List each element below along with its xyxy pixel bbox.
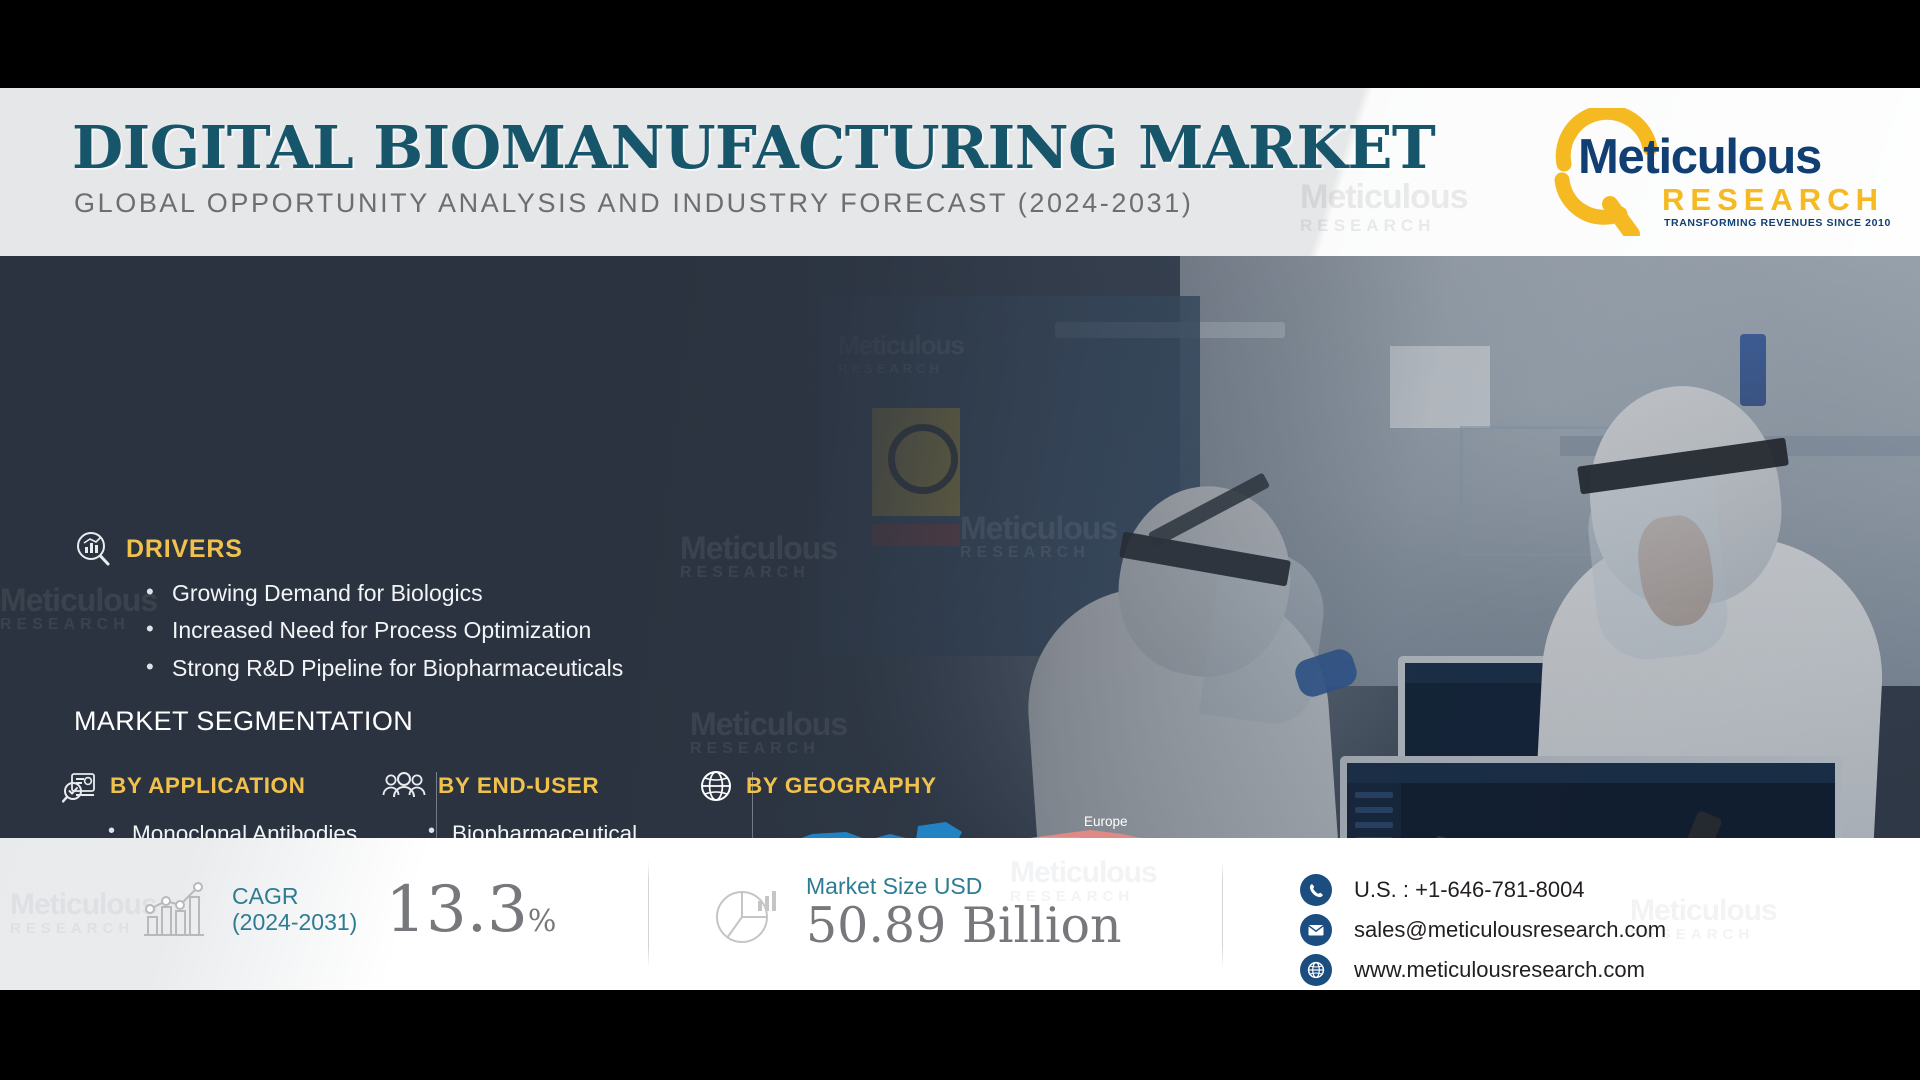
market-size-block: Market Size USD 50.89 Billion [712, 874, 1122, 954]
segment-item: Biopharmaceutical Companies [424, 820, 692, 838]
segment-column-geography: BY GEOGRAPHY [698, 764, 1218, 808]
drivers-heading-row: DRIVERS [74, 530, 243, 568]
drivers-heading: DRIVERS [126, 535, 243, 564]
contact-row-phone[interactable]: U.S. : +1-646-781-8004 [1300, 870, 1666, 910]
chart-magnifier-icon [74, 530, 112, 568]
map-region-north-america [780, 822, 962, 838]
letterbox-bottom [0, 990, 1920, 1080]
logo-tagline: TRANSFORMING REVENUES SINCE 2010 [1664, 218, 1891, 229]
header-watermark: Meticulous RESEARCH [1300, 180, 1560, 256]
footer-band: MeticulousRESEARCH MeticulousRESEARCH Me… [0, 838, 1920, 990]
infographic-card: Meticulous RESEARCH DIGITAL BIOMANUFACTU… [0, 88, 1920, 990]
segment-items: Biopharmaceutical Companies Academic and… [382, 820, 692, 838]
watermark-line2: RESEARCH [1300, 216, 1560, 236]
driver-item: Strong R&D Pipeline for Biopharmaceutica… [138, 655, 623, 682]
globe-icon [698, 768, 734, 804]
watermark-line1: Meticulous [1300, 180, 1560, 214]
logo-name-primary: Meticulous [1578, 133, 1821, 182]
footer-separator-1 [648, 860, 649, 968]
page-subtitle: GLOBAL OPPORTUNITY ANALYSIS AND INDUSTRY… [74, 190, 1193, 217]
driver-item: Increased Need for Process Optimization [138, 617, 623, 644]
cagr-label: CAGR (2024-2031) [232, 884, 357, 936]
market-size-value: 50.89 Billion [806, 899, 1122, 954]
contact-row-website[interactable]: www.meticulousresearch.com [1300, 950, 1666, 990]
cagr-value-wrap: 13.3% [385, 878, 556, 942]
map-region-europe [972, 830, 1162, 838]
cagr-unit: % [528, 904, 557, 939]
main-band: MeticulousRESEARCH [0, 256, 1920, 838]
users-group-icon [382, 771, 426, 801]
segment-heading-row: BY END-USER [382, 764, 692, 808]
pie-chart-icon [712, 881, 780, 947]
segment-heading-row: BY APPLICATION [62, 764, 380, 808]
segment-heading: BY END-USER [438, 773, 599, 799]
world-map: North America Latin America Europe Asia … [750, 804, 1220, 838]
phone-icon [1300, 874, 1332, 906]
footer-separator-2 [1222, 860, 1223, 968]
bar-line-chart-icon [140, 879, 210, 941]
logo-name-secondary: RESEARCH [1662, 184, 1884, 215]
driver-item: Growing Demand for Biologics [138, 580, 623, 607]
segment-heading-row: BY GEOGRAPHY [698, 764, 1218, 808]
header-band: Meticulous RESEARCH DIGITAL BIOMANUFACTU… [0, 88, 1920, 256]
infographic-root: Meticulous RESEARCH DIGITAL BIOMANUFACTU… [0, 0, 1920, 1080]
contact-email: sales@meticulousresearch.com [1354, 917, 1666, 943]
letterbox-top [0, 0, 1920, 88]
brand-logo[interactable]: Meticulous RESEARCH TRANSFORMING REVENUE… [1552, 106, 1872, 236]
document-search-icon [62, 768, 98, 804]
segment-heading: BY APPLICATION [110, 773, 306, 799]
cagr-value: 13.3 [385, 873, 528, 947]
world-map-svg: North America Latin America Europe Asia … [750, 804, 1220, 838]
cagr-label-line2: (2024-2031) [232, 910, 357, 936]
contact-block: U.S. : +1-646-781-8004 sales@meticulousr… [1300, 870, 1666, 990]
segment-item: Monoclonal Antibodies [104, 820, 380, 838]
globe-icon [1300, 954, 1332, 986]
main-content: DRIVERS Growing Demand for Biologics Inc… [0, 256, 1920, 838]
contact-row-email[interactable]: sales@meticulousresearch.com [1300, 910, 1666, 950]
market-size-text: Market Size USD 50.89 Billion [806, 874, 1122, 954]
contact-phone: U.S. : +1-646-781-8004 [1354, 877, 1585, 903]
cagr-block: CAGR (2024-2031) 13.3% [140, 878, 556, 942]
segment-heading: BY GEOGRAPHY [746, 773, 937, 799]
contact-website: www.meticulousresearch.com [1354, 957, 1645, 983]
map-label-europe: Europe [1084, 814, 1128, 829]
email-icon [1300, 914, 1332, 946]
segment-column-end-user: BY END-USER Biopharmaceutical Companies … [382, 764, 692, 838]
market-size-label: Market Size USD [806, 874, 1122, 899]
segment-items: Monoclonal Antibodies Recombinant Hormon… [62, 820, 380, 838]
cagr-label-line1: CAGR [232, 884, 357, 910]
segmentation-heading: MARKET SEGMENTATION [74, 706, 413, 737]
segment-column-application: BY APPLICATION Monoclonal Antibodies Rec… [62, 764, 380, 838]
page-title: DIGITAL BIOMANUFACTURING MARKET [72, 118, 1435, 177]
drivers-list: Growing Demand for Biologics Increased N… [138, 580, 623, 692]
